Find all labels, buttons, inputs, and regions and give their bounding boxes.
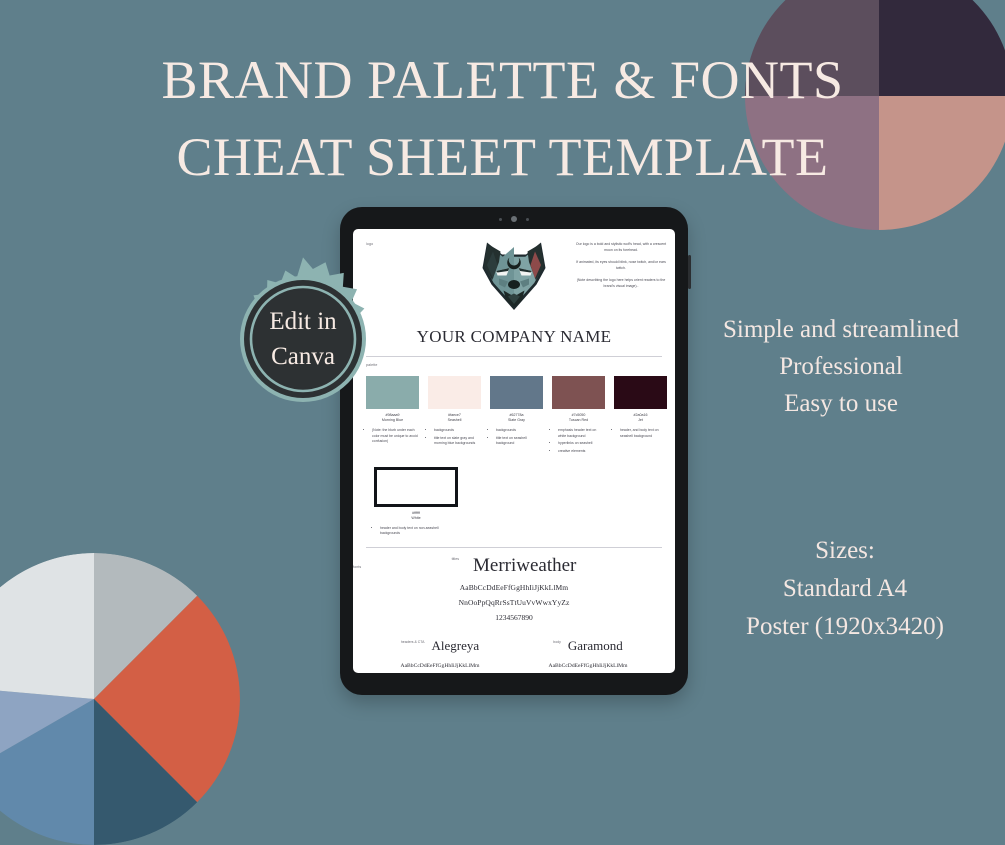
swatch-usage-list: backgrounds title text on slate gray and…: [428, 428, 481, 447]
sizes-line-1: Standard A4: [690, 570, 1000, 608]
swatch-usage-item: title text on seashell background: [496, 436, 543, 448]
feature-line-1: Simple and streamlined: [682, 312, 1000, 349]
company-name: YOUR COMPANY NAME: [353, 327, 675, 347]
sizes-line-2: Poster (1920x3420): [690, 608, 1000, 646]
swatch-item: #2a0a16 Jet header, and body text on sea…: [614, 376, 667, 457]
logo-section: logo: [353, 229, 675, 325]
wolf-head-logo-icon: [469, 235, 559, 324]
swatch-name: Slate Gray: [490, 418, 543, 423]
swatch-chip-seashell: [428, 376, 481, 409]
header-font-label: headers & CTA: [401, 640, 425, 644]
tablet-screen: logo: [353, 229, 675, 673]
swatch-chip-white: [374, 467, 458, 507]
header-font-block: headers & CTAAlegreya AaBbCcDdEeFfGgHhIi…: [366, 638, 514, 669]
body-font-name: Garamond: [568, 638, 623, 653]
swatch-name: Seashell: [428, 418, 481, 423]
feature-line-2: Professional: [682, 349, 1000, 386]
swatch-usage-item: header and body text on non-seashell bac…: [380, 526, 458, 538]
camera-icon: [511, 216, 517, 222]
sensor-icon-left: [499, 218, 502, 221]
logo-section-tag: logo: [366, 242, 373, 246]
sizes-list: Sizes: Standard A4 Poster (1920x3420): [690, 532, 1000, 646]
swatch-usage-list: emphasis header text on white background…: [552, 428, 605, 455]
swatch-chip-slate-gray: [490, 376, 543, 409]
swatch-item: #62778a Slate Gray backgrounds title tex…: [490, 376, 543, 457]
swatch-usage-item: backgrounds: [434, 428, 481, 434]
title-font-alphabet-lower: NnOoPpQqRrSsTtUuVvWwxYyZz: [366, 598, 662, 607]
swatch-usage-item: (Note: the blurb under each color must b…: [372, 428, 419, 445]
logo-note-line-1: Our logo is a bold and stylistic wolf's …: [575, 241, 667, 254]
swatch-item: #7c5050 Tuscan Red emphasis header text …: [552, 376, 605, 457]
page-title-line-2: CHEAT SHEET TEMPLATE: [0, 119, 1005, 196]
page-title: BRAND PALETTE & FONTS CHEAT SHEET TEMPLA…: [0, 42, 1005, 195]
swatch-usage-list: (Note: the blurb under each color must b…: [366, 428, 419, 445]
swatch-chip-tuscan-red: [552, 376, 605, 409]
swatch-usage-item: title text on slate gray and morning blu…: [434, 436, 481, 448]
tablet-camera-notch: [340, 216, 688, 222]
title-font-alphabet-upper: AaBbCcDdEeFfGgHhIiJjKkLlMm: [366, 583, 662, 592]
swatch-name: Tuscan Red: [552, 418, 605, 423]
header-font-name-row: headers & CTAAlegreya: [366, 638, 514, 654]
pie-wheel-svg: [0, 553, 240, 845]
swatch-usage-list: header, and body text on seashell backgr…: [614, 428, 667, 440]
swatch-chip-jet: [614, 376, 667, 409]
title-font-label: titles: [452, 557, 459, 561]
logo-note-line-3: (Note describing the logo here helps ori…: [575, 277, 667, 290]
header-font-alphabet: AaBbCcDdEeFfGgHhIiJjKkLlMm: [366, 663, 514, 669]
sizes-heading: Sizes:: [690, 532, 1000, 570]
feature-list: Simple and streamlined Professional Easy…: [682, 312, 1000, 422]
title-font-numerals: 1234567890: [366, 613, 662, 622]
logo-note-line-2: If animated, its eyes should blink, nose…: [575, 259, 667, 272]
body-font-name-row: bodyGaramond: [514, 638, 662, 654]
title-font-name: Merriweather: [473, 555, 576, 576]
divider-before-fonts: [366, 547, 662, 548]
swatch-usage-item: backgrounds: [496, 428, 543, 434]
starburst-icon: [221, 257, 385, 421]
swatch-usage-list: header and body text on non-seashell bac…: [374, 526, 458, 538]
swatch-usage-item: header, and body text on seashell backgr…: [620, 428, 667, 440]
body-font-alphabet: AaBbCcDdEeFfGgHhIiJjKkLlMm: [514, 663, 662, 669]
decorative-pie-wheel: [0, 553, 240, 845]
page-title-line-1: BRAND PALETTE & FONTS: [0, 42, 1005, 119]
swatch-name: White: [374, 516, 458, 521]
edit-in-canva-badge[interactable]: Edit in Canva: [221, 257, 385, 421]
logo-description-note: Our logo is a bold and stylistic wolf's …: [575, 241, 667, 295]
swatch-usage-item: emphasis header text on white background: [558, 428, 605, 440]
pie-segment-light-gray: [0, 553, 94, 699]
body-font-block: bodyGaramond AaBbCcDdEeFfGgHhIiJjKkLlMm: [514, 638, 662, 669]
sensor-icon-right: [526, 218, 529, 221]
swatch-name: Jet: [614, 418, 667, 423]
fonts-section-tag: fonts: [353, 565, 361, 569]
palette-section: palette #98aaa9 Morning Blue (Note: the …: [353, 357, 675, 537]
swatch-row: #98aaa9 Morning Blue (Note: the blurb un…: [366, 376, 662, 457]
feature-line-3: Easy to use: [682, 386, 1000, 423]
swatch-usage-item: hyperlinks on seashell: [558, 441, 605, 447]
header-font-name: Alegreya: [432, 638, 480, 653]
body-font-label: body: [553, 640, 561, 644]
tablet-device: logo: [340, 207, 688, 695]
title-font-block: titlesMerriweather: [366, 555, 662, 577]
swatch-usage-item: creative elements: [558, 449, 605, 455]
fonts-section: fonts titlesMerriweather AaBbCcDdEeFfGgH…: [353, 555, 675, 669]
tablet-power-button[interactable]: [688, 255, 691, 289]
swatch-item-white: #ffffff White header and body text on no…: [374, 467, 458, 537]
swatch-usage-list: backgrounds title text on seashell backg…: [490, 428, 543, 447]
swatch-item: #faece7 Seashell backgrounds title text …: [428, 376, 481, 457]
secondary-fonts-row: headers & CTAAlegreya AaBbCcDdEeFfGgHhIi…: [366, 638, 662, 669]
